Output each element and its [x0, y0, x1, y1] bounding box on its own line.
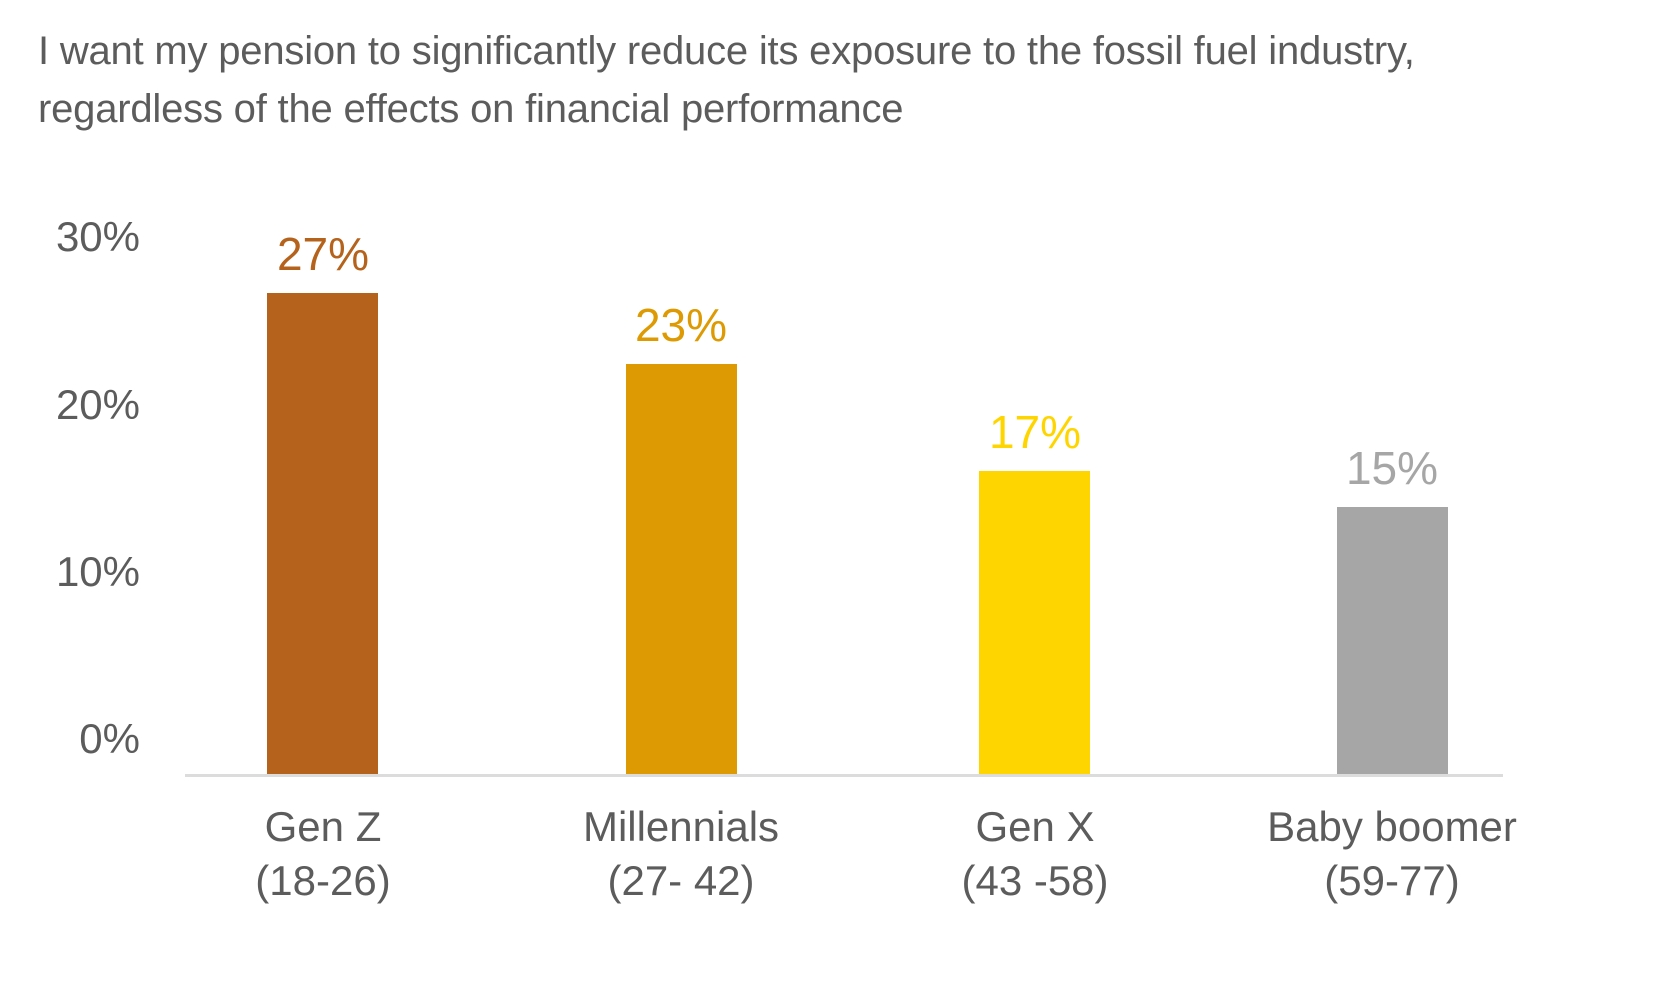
x-axis-label-baby-boomer: Baby boomer (59-77) [1227, 800, 1557, 908]
bar-millennials[interactable] [626, 364, 737, 774]
bar-value-gen-x: 17% [940, 409, 1130, 455]
bar-gen-z[interactable] [267, 293, 378, 775]
x-axis-label-millennials-name: Millennials [516, 800, 846, 854]
y-axis-tick-0: 0% [10, 718, 140, 760]
x-axis-label-gen-z: Gen Z (18-26) [158, 800, 488, 908]
x-axis-label-gen-z-name: Gen Z [158, 800, 488, 854]
bar-chart-plot-area: 30% 20% 10% 0% 27% 23% 17% 15% Gen Z (18… [0, 0, 1653, 993]
x-axis-label-gen-z-range: (18-26) [158, 854, 488, 908]
y-axis-tick-20: 20% [10, 384, 140, 426]
bar-baby-boomer[interactable] [1337, 507, 1448, 775]
x-axis-label-baby-boomer-name: Baby boomer [1227, 800, 1557, 854]
x-axis-label-gen-x-range: (43 -58) [870, 854, 1200, 908]
x-axis-label-baby-boomer-range: (59-77) [1227, 854, 1557, 908]
x-axis-baseline [185, 774, 1503, 777]
x-axis-label-gen-x-name: Gen X [870, 800, 1200, 854]
bar-value-baby-boomer: 15% [1297, 445, 1487, 491]
bar-value-gen-z: 27% [228, 231, 418, 277]
bar-value-millennials: 23% [586, 302, 776, 348]
y-axis-tick-10: 10% [10, 551, 140, 593]
x-axis-label-gen-x: Gen X (43 -58) [870, 800, 1200, 908]
bar-gen-x[interactable] [979, 471, 1090, 774]
y-axis-tick-30: 30% [10, 216, 140, 258]
x-axis-label-millennials: Millennials (27- 42) [516, 800, 846, 908]
x-axis-label-millennials-range: (27- 42) [516, 854, 846, 908]
